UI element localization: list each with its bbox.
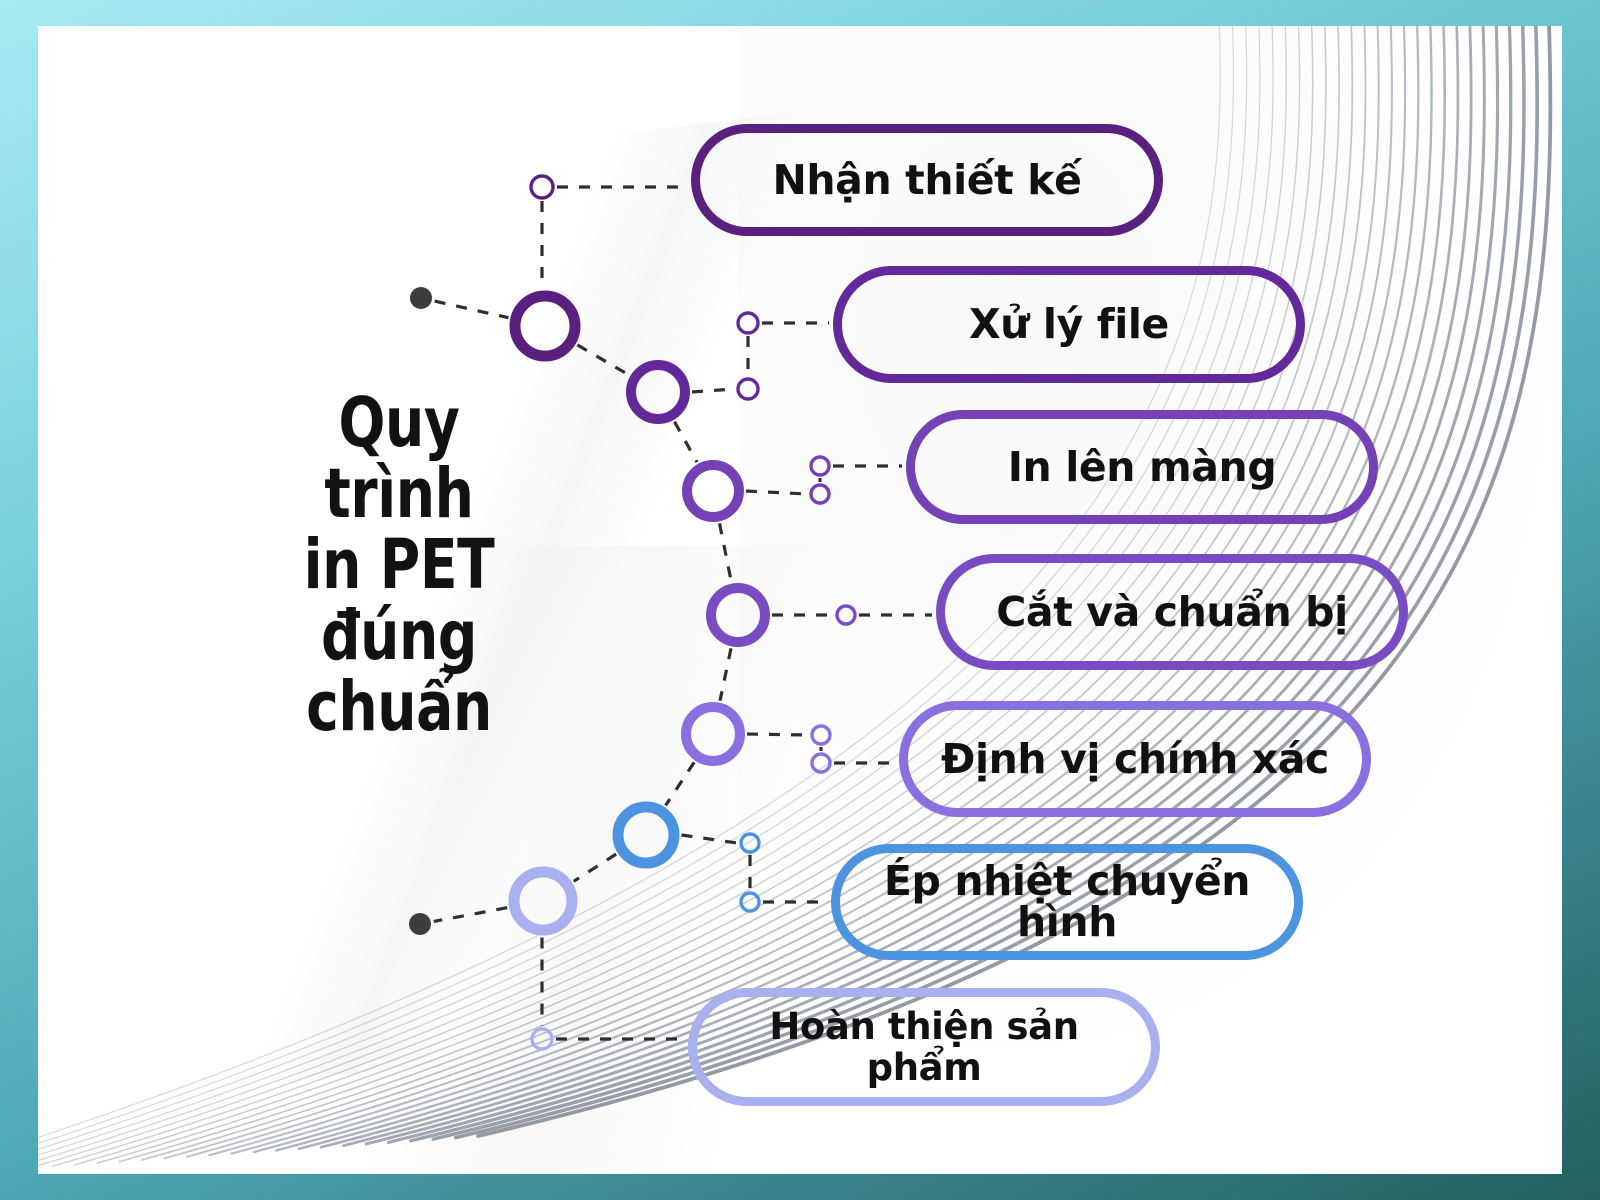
step-pill-label-4: Cắt và chuẩn bị: [996, 592, 1348, 633]
process-node-5: [686, 707, 740, 761]
step-pill-4[interactable]: Cắt và chuẩn bị: [936, 554, 1408, 670]
step-pill-label-7: Hoàn thiện sản phẩm: [769, 1006, 1078, 1089]
step-pill-label-5: Định vị chính xác: [941, 739, 1329, 780]
step-pill-label-1: Nhận thiết kế: [772, 160, 1081, 201]
end-dot: [409, 913, 431, 935]
step-pill-5[interactable]: Định vị chính xác: [899, 701, 1371, 817]
step-pill-label-3: In lên màng: [1008, 447, 1277, 488]
step-pill-3[interactable]: In lên màng: [906, 410, 1378, 524]
start-dot: [410, 287, 432, 309]
poster-frame: Quy trình in PET đúng chuẩn Nhận thiết k…: [0, 0, 1600, 1200]
poster-canvas: Quy trình in PET đúng chuẩn Nhận thiết k…: [38, 26, 1562, 1174]
step-pill-2[interactable]: Xử lý file: [833, 266, 1305, 383]
process-node-4: [711, 588, 765, 642]
step-pill-1[interactable]: Nhận thiết kế: [691, 124, 1163, 236]
step-pill-7[interactable]: Hoàn thiện sản phẩm: [688, 988, 1160, 1106]
process-node-2: [631, 365, 685, 419]
step-pill-label-6: Ép nhiệt chuyển hình: [840, 861, 1294, 943]
step-pill-6[interactable]: Ép nhiệt chuyển hình: [831, 844, 1303, 960]
process-node-6: [618, 807, 674, 863]
process-node-7: [514, 872, 572, 930]
process-node-3: [687, 465, 739, 517]
page-title: Quy trình in PET đúng chuẩn: [267, 388, 531, 743]
process-node-1: [515, 296, 575, 356]
step-pill-label-2: Xử lý file: [969, 304, 1169, 345]
